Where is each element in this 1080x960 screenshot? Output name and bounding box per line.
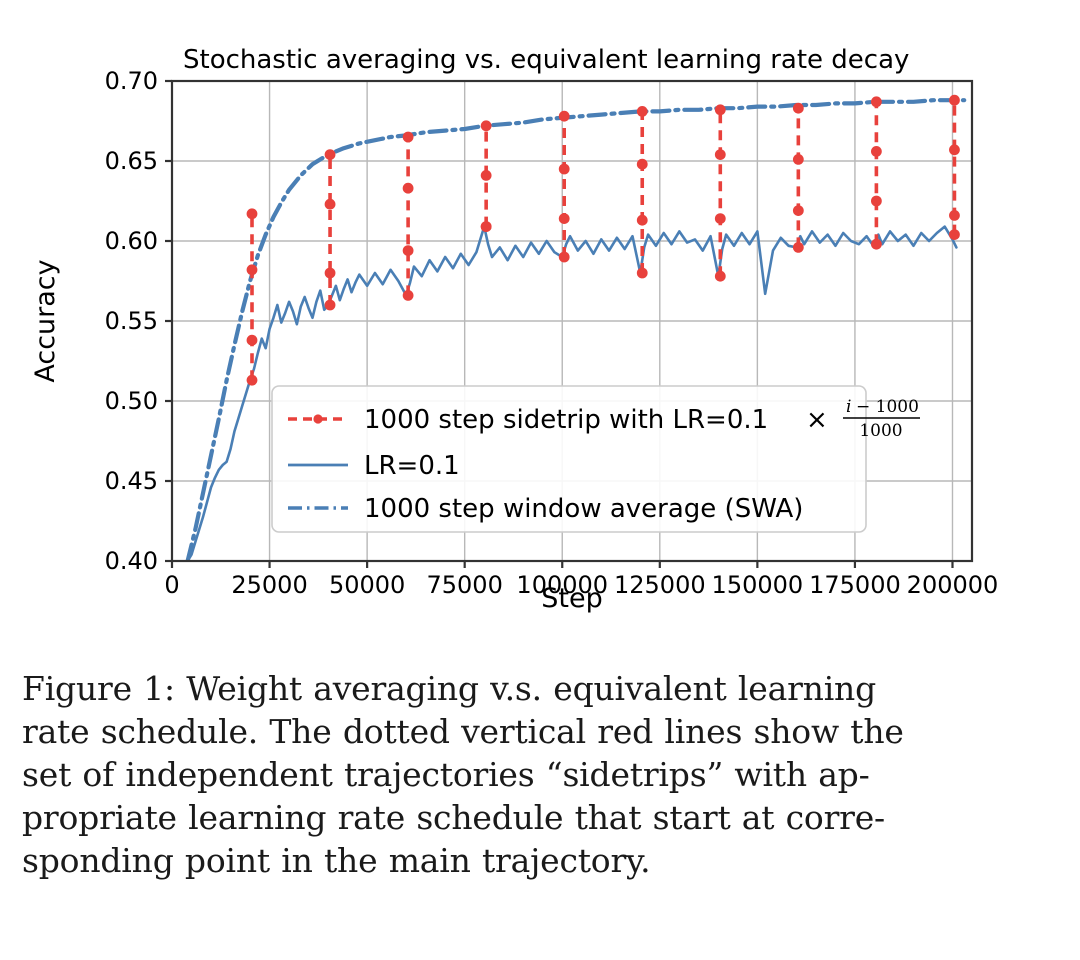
sidetrip-point <box>637 159 648 170</box>
legend-label-sidetrip: 1000 step sidetrip with LR=0.1 <box>364 405 768 435</box>
caption-line-5: sponding point in the main trajectory. <box>22 840 1062 883</box>
sidetrip-point <box>559 164 570 175</box>
sidetrip-point <box>715 104 726 115</box>
legend-label-times: × <box>806 405 828 435</box>
y-axis-label: Accuracy <box>30 259 61 382</box>
sidetrip-point <box>325 149 336 160</box>
legend-label-lr: LR=0.1 <box>364 451 460 481</box>
sidetrip-point <box>715 213 726 224</box>
y-tick-label: 0.60 <box>105 227 158 255</box>
sidetrip-point <box>247 264 258 275</box>
sidetrip-point <box>403 245 414 256</box>
legend-entry-swa[interactable]: 1000 step window average (SWA) <box>288 494 803 524</box>
sidetrip-point <box>481 170 492 181</box>
chart-title: Stochastic averaging vs. equivalent lear… <box>183 45 909 75</box>
legend-label-swa: 1000 step window average (SWA) <box>364 494 803 524</box>
x-tick-label: 150000 <box>712 571 804 599</box>
legend-fraction-numerator-rest: − 1000 <box>856 397 919 417</box>
sidetrip-point <box>247 375 258 386</box>
y-tick-label: 0.70 <box>105 67 158 95</box>
x-tick-label: 200000 <box>907 571 999 599</box>
sidetrip-point <box>793 154 804 165</box>
sidetrip-point <box>559 111 570 122</box>
accuracy-vs-step-chart: 0250005000075000100000125000150000175000… <box>0 0 1080 640</box>
x-tick-label: 75000 <box>427 571 503 599</box>
y-tick-labels: 0.400.450.500.550.600.650.70 <box>105 67 158 575</box>
sidetrip-point <box>715 271 726 282</box>
sidetrip-point <box>793 205 804 216</box>
sidetrip-point <box>871 239 882 250</box>
sidetrip-point <box>949 95 960 106</box>
sidetrip-point <box>871 96 882 107</box>
sidetrip-point <box>793 242 804 253</box>
sidetrip-point <box>871 196 882 207</box>
x-tick-label: 125000 <box>614 571 706 599</box>
sidetrip-point <box>949 229 960 240</box>
sidetrip-point <box>949 210 960 221</box>
sidetrip-point <box>325 268 336 279</box>
sidetrip-point <box>715 149 726 160</box>
sidetrip-point <box>403 290 414 301</box>
legend-fraction-denominator: 1000 <box>859 421 902 441</box>
sidetrip-point <box>637 268 648 279</box>
sidetrip-point <box>403 132 414 143</box>
x-tick-label: 175000 <box>809 571 901 599</box>
sidetrip-point <box>949 144 960 155</box>
sidetrip-point <box>637 106 648 117</box>
sidetrip-point <box>325 300 336 311</box>
legend-swatch-sidetrip-dot <box>313 414 322 423</box>
y-tick-label: 0.45 <box>105 467 158 495</box>
figure-page: 0250005000075000100000125000150000175000… <box>0 0 1080 960</box>
caption-line-1: Figure 1: Weight averaging v.s. equivale… <box>22 668 1062 711</box>
x-tick-label: 25000 <box>231 571 307 599</box>
sidetrip-point <box>403 183 414 194</box>
x-axis-label: Step <box>541 583 602 614</box>
chart-legend[interactable]: 1000 step sidetrip with LR=0.1 × i − 100… <box>272 386 920 532</box>
sidetrip-point <box>481 120 492 131</box>
sidetrip-point <box>481 221 492 232</box>
y-tick-label: 0.50 <box>105 387 158 415</box>
sidetrip-point <box>793 103 804 114</box>
y-tick-label: 0.40 <box>105 547 158 575</box>
y-tick-label: 0.65 <box>105 147 158 175</box>
sidetrip-point <box>559 213 570 224</box>
legend-fraction-numerator-i: i <box>846 397 851 417</box>
sidetrip-point <box>247 335 258 346</box>
sidetrip-point <box>559 252 570 263</box>
sidetrip-point <box>637 215 648 226</box>
x-tick-label: 0 <box>164 571 179 599</box>
caption-line-2: rate schedule. The dotted vertical red l… <box>22 711 1062 754</box>
sidetrip-point <box>247 208 258 219</box>
sidetrip-point <box>325 199 336 210</box>
chart-figure: 0250005000075000100000125000150000175000… <box>0 0 1080 640</box>
caption-line-3: set of independent trajectories “sidetri… <box>22 754 1062 797</box>
caption-line-4: propriate learning rate schedule that st… <box>22 797 1062 840</box>
sidetrip-point <box>871 146 882 157</box>
figure-caption: Figure 1: Weight averaging v.s. equivale… <box>22 668 1062 882</box>
y-tick-label: 0.55 <box>105 307 158 335</box>
x-tick-label: 50000 <box>329 571 405 599</box>
